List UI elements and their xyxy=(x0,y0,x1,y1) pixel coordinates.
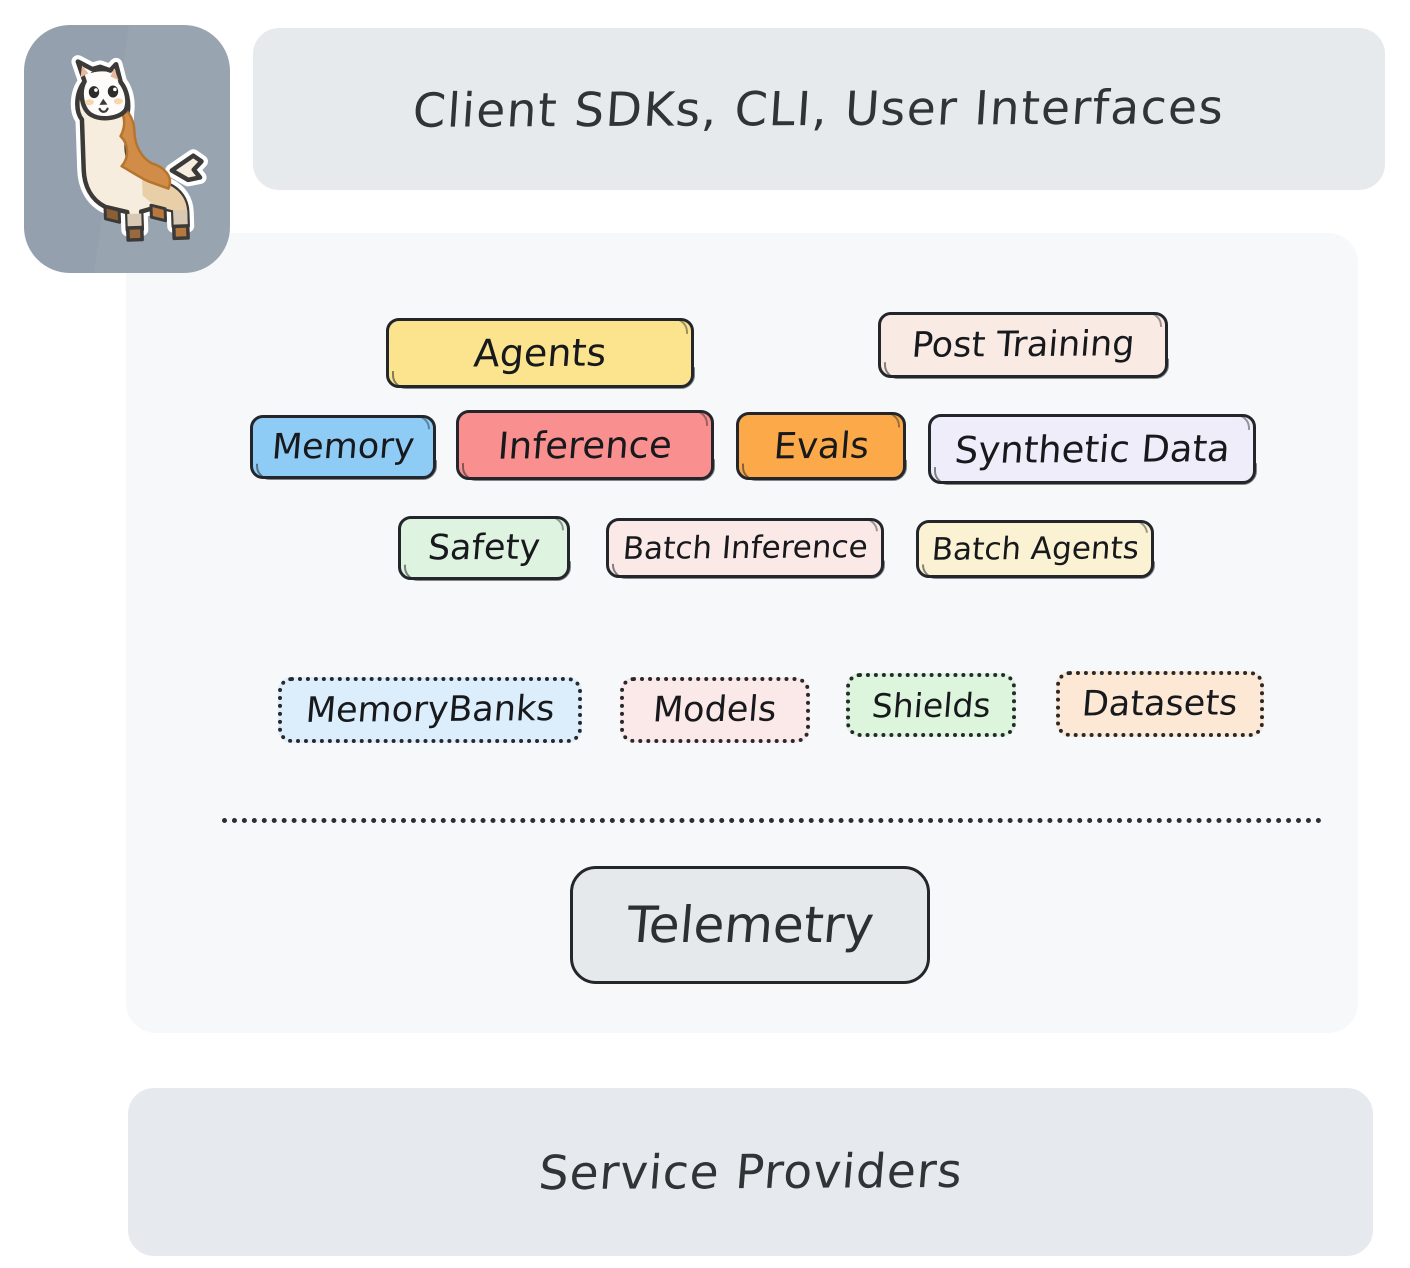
api-box-batch-inference[interactable]: Batch Inference xyxy=(606,518,884,578)
llama-logo-tile xyxy=(24,25,230,273)
api-box-evals[interactable]: Evals xyxy=(736,412,906,480)
api-box-batch-agents[interactable]: Batch Agents xyxy=(916,520,1154,578)
service-providers-title: Service Providers xyxy=(536,1143,964,1200)
diagram-canvas: Client SDKs, CLI, User Interfaces xyxy=(0,0,1410,1268)
service-providers-bar: Service Providers xyxy=(128,1088,1373,1256)
api-box-label: Batch Inference xyxy=(621,529,869,567)
resource-box-label: Models xyxy=(652,690,779,731)
api-box-label: Memory xyxy=(270,427,416,468)
api-box-label: Synthetic Data xyxy=(953,427,1231,472)
resource-box-memorybanks[interactable]: MemoryBanks xyxy=(278,677,582,743)
resource-box-label: Datasets xyxy=(1081,683,1240,724)
api-box-label: Inference xyxy=(496,423,673,467)
api-box-post-training[interactable]: Post Training xyxy=(878,312,1168,378)
client-layer-title: Client SDKs, CLI, User Interfaces xyxy=(411,80,1226,139)
resource-box-models[interactable]: Models xyxy=(620,677,810,743)
api-box-label: Agents xyxy=(472,331,608,376)
api-box-safety[interactable]: Safety xyxy=(398,516,570,580)
resource-box-datasets[interactable]: Datasets xyxy=(1056,671,1264,737)
api-box-label: Post Training xyxy=(910,324,1136,366)
telemetry-label: Telemetry xyxy=(624,896,876,954)
resource-box-label: Shields xyxy=(870,685,992,725)
telemetry-box[interactable]: Telemetry xyxy=(570,866,930,984)
api-box-label: Batch Agents xyxy=(930,530,1140,567)
api-box-agents[interactable]: Agents xyxy=(386,318,694,388)
resource-box-shields[interactable]: Shields xyxy=(846,673,1016,737)
layer-divider xyxy=(222,818,1322,823)
api-box-memory[interactable]: Memory xyxy=(250,415,436,479)
api-box-label: Safety xyxy=(426,528,541,569)
resource-box-label: MemoryBanks xyxy=(304,689,556,731)
api-box-label: Evals xyxy=(772,425,870,467)
client-layer-bar: Client SDKs, CLI, User Interfaces xyxy=(253,28,1385,190)
api-box-synthetic-data[interactable]: Synthetic Data xyxy=(928,414,1256,484)
llama-sticker-icon xyxy=(39,43,214,255)
api-box-inference[interactable]: Inference xyxy=(456,410,714,480)
